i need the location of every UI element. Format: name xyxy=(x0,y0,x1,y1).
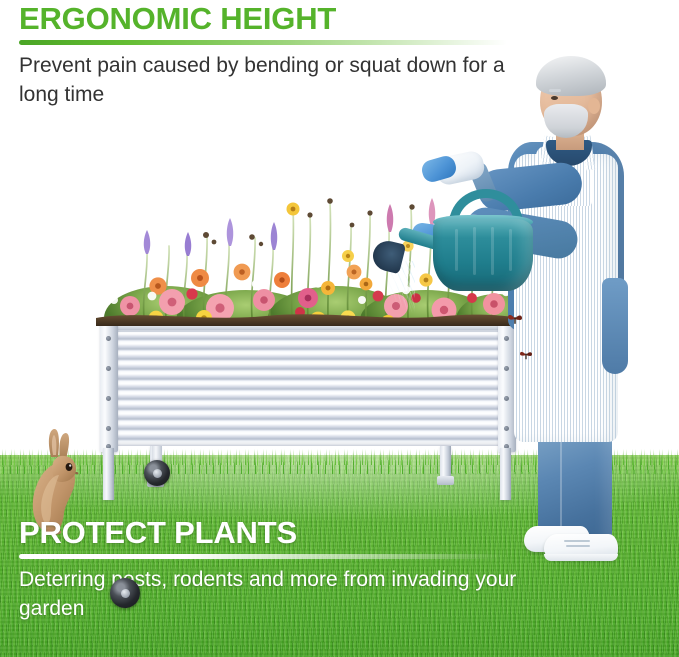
watering-can-body xyxy=(433,219,533,291)
product-feature-image: ERGONOMIC HEIGHT Prevent pain caused by … xyxy=(0,0,679,657)
watering-can xyxy=(403,175,543,300)
top-divider xyxy=(19,40,507,45)
leg-mid-right xyxy=(440,446,451,478)
jeans-seam xyxy=(560,436,562,540)
shoe-sole xyxy=(544,554,618,561)
leg-front-left xyxy=(103,448,114,500)
caster-wheel-rear xyxy=(110,578,140,608)
shoe-lace-2 xyxy=(566,545,590,547)
top-text-panel: ERGONOMIC HEIGHT Prevent pain caused by … xyxy=(19,3,539,110)
butterfly-upper xyxy=(507,312,523,330)
water-stream xyxy=(349,261,415,327)
bottom-text-panel: PROTECT PLANTS Deterring pests, rodents … xyxy=(19,517,539,624)
apron-tie xyxy=(602,278,628,374)
bottom-divider xyxy=(19,554,507,559)
hair xyxy=(536,56,606,96)
corrugated-side-panel xyxy=(106,330,510,446)
caster-wheel-front xyxy=(144,460,170,486)
ear xyxy=(588,98,600,114)
top-heading: ERGONOMIC HEIGHT xyxy=(19,3,539,34)
gardener-figure xyxy=(452,58,667,548)
top-subtext: Prevent pain caused by bending or squat … xyxy=(19,52,519,110)
shoe-lace xyxy=(564,540,590,542)
eyebrow xyxy=(549,89,561,92)
bottom-heading: PROTECT PLANTS xyxy=(19,517,539,548)
eye xyxy=(551,96,558,100)
corner-post-left xyxy=(100,320,118,452)
bottom-subtext: Deterring pests, rodents and more from i… xyxy=(19,566,519,624)
butterfly-lower xyxy=(519,348,533,366)
